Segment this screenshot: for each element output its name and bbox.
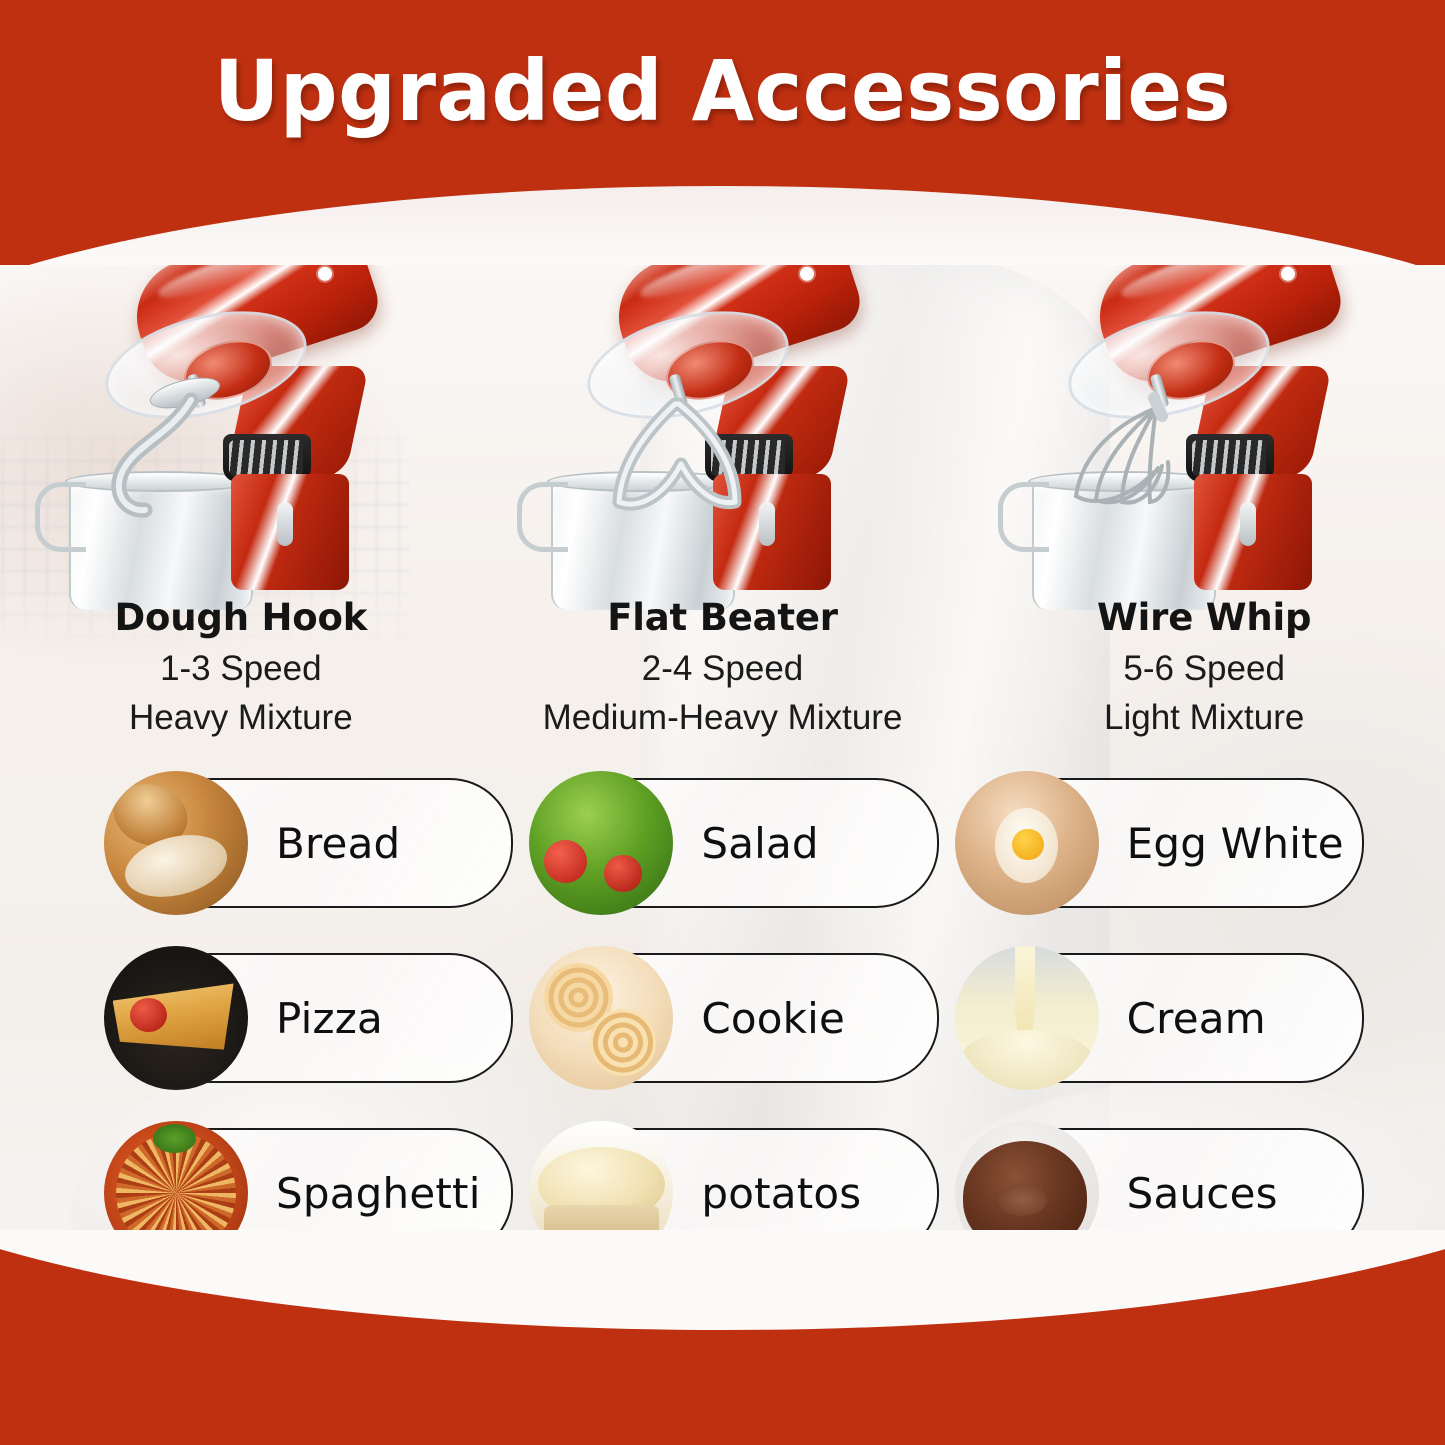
eggs-photo	[955, 771, 1099, 915]
food-pill-label: Cookie	[701, 994, 845, 1043]
motor-vents	[229, 440, 303, 476]
stand-mixer-icon	[41, 258, 441, 588]
mixer-cell-dough-hook	[0, 258, 482, 588]
accessory-speed: 1-3 Speed	[0, 644, 482, 694]
header-banner: Upgraded Accessories	[0, 0, 1445, 265]
brand-logo-icon	[798, 265, 816, 283]
bowl-handle-icon	[998, 482, 1049, 552]
accessory-mixture: Medium-Heavy Mixture	[482, 693, 964, 743]
speed-switch-icon	[277, 502, 293, 546]
accessory-speed: 5-6 Speed	[963, 644, 1445, 694]
food-pill-label: potatos	[701, 1169, 861, 1218]
food-pill-bread[interactable]: Bread	[108, 778, 513, 908]
header-arc-shadow	[0, 186, 1445, 265]
accessory-name: Wire Whip	[963, 596, 1445, 640]
mixing-bowl-icon	[551, 480, 735, 610]
brand-logo-icon	[1279, 265, 1297, 283]
food-pill-label: Spaghetti	[276, 1169, 481, 1218]
food-pill-label: Pizza	[276, 994, 383, 1043]
accessory-dough-hook: Dough Hook 1-3 Speed Heavy Mixture	[0, 596, 482, 743]
food-pill-cream[interactable]: Cream	[959, 953, 1364, 1083]
mixer-image-row	[0, 258, 1445, 588]
speed-switch-icon	[1240, 502, 1256, 546]
mixing-bowl-icon	[1032, 480, 1216, 610]
stand-mixer-icon	[1004, 258, 1404, 588]
product-infographic: Upgraded Accessories	[0, 0, 1445, 1445]
food-pill-pizza[interactable]: Pizza	[108, 953, 513, 1083]
mixer-cell-flat-beater	[482, 258, 964, 588]
accessory-name: Flat Beater	[482, 596, 964, 640]
motor-vents	[711, 440, 785, 476]
accessory-speed: 2-4 Speed	[482, 644, 964, 694]
pizza-photo	[104, 946, 248, 1090]
food-use-grid: Bread Salad Egg White Pizza Cookie Cream…	[108, 778, 1364, 1258]
accessory-flat-beater: Flat Beater 2-4 Speed Medium-Heavy Mixtu…	[482, 596, 964, 743]
cookie-photo	[529, 946, 673, 1090]
food-pill-label: Cream	[1127, 994, 1266, 1043]
salad-photo	[529, 771, 673, 915]
accessory-mixture: Light Mixture	[963, 693, 1445, 743]
cream-photo	[955, 946, 1099, 1090]
footer-banner	[0, 1230, 1445, 1445]
food-pill-cookie[interactable]: Cookie	[533, 953, 938, 1083]
food-pill-egg-white[interactable]: Egg White	[959, 778, 1364, 908]
food-pill-label: Egg White	[1127, 819, 1344, 868]
footer-arc-divider	[0, 1230, 1445, 1330]
food-pill-salad[interactable]: Salad	[533, 778, 938, 908]
bowl-handle-icon	[35, 482, 86, 552]
bowl-handle-icon	[517, 482, 568, 552]
mixing-bowl-icon	[69, 480, 253, 610]
accessory-mixture: Heavy Mixture	[0, 693, 482, 743]
motor-vents	[1192, 440, 1266, 476]
speed-switch-icon	[759, 502, 775, 546]
stand-mixer-icon	[523, 258, 923, 588]
brand-logo-icon	[316, 265, 334, 283]
food-pill-label: Sauces	[1127, 1169, 1278, 1218]
bread-photo	[104, 771, 248, 915]
page-title: Upgraded Accessories	[29, 42, 1416, 140]
accessory-wire-whip: Wire Whip 5-6 Speed Light Mixture	[963, 596, 1445, 743]
food-pill-label: Bread	[276, 819, 400, 868]
accessory-label-row: Dough Hook 1-3 Speed Heavy Mixture Flat …	[0, 596, 1445, 743]
mixer-cell-wire-whip	[963, 258, 1445, 588]
accessory-name: Dough Hook	[0, 596, 482, 640]
food-pill-label: Salad	[701, 819, 818, 868]
